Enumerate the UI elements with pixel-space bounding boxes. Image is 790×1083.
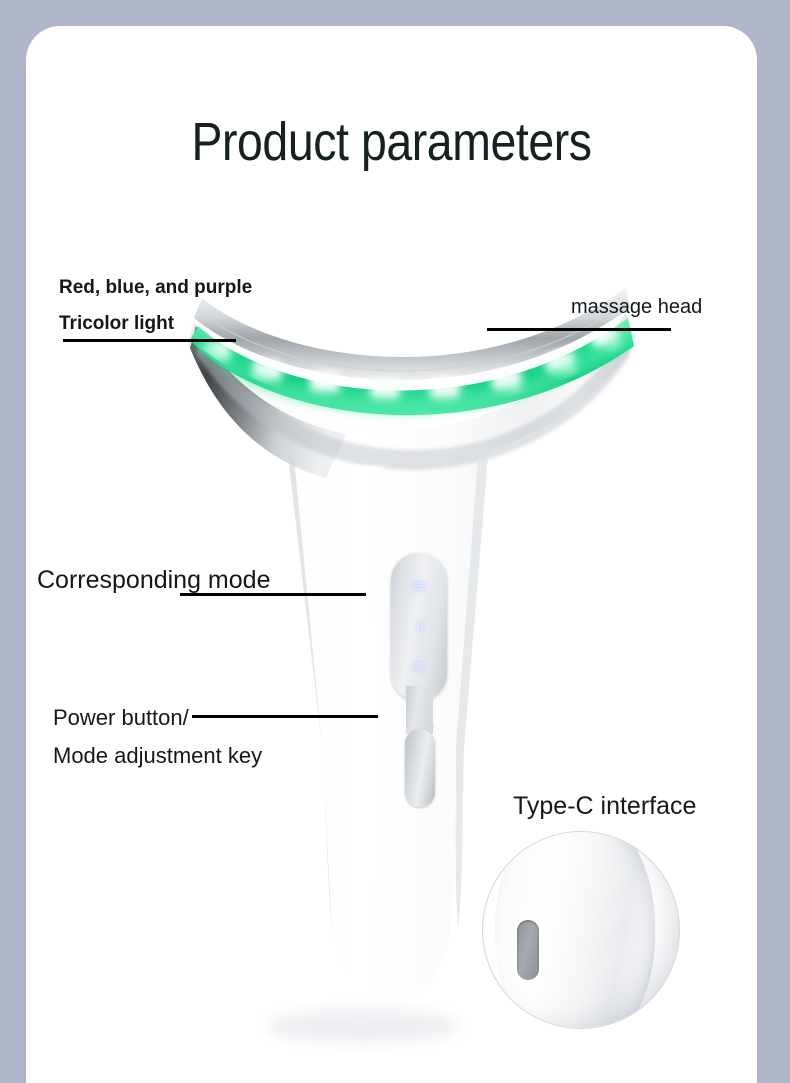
panel-stem (406, 686, 433, 734)
heat-icon: ≈ (411, 599, 427, 655)
heat-and-vibration-icon: ≋ (391, 659, 447, 673)
white-card: ≋ ≈ ≋ Product parameters Red, blue, and … (26, 26, 757, 1083)
inset-vignette (483, 832, 679, 1028)
corresponding-mode-label: Corresponding mode (37, 567, 270, 593)
type-c-zoom-inset (482, 831, 680, 1029)
power-button[interactable] (405, 729, 435, 807)
infographic-canvas: ≋ ≈ ≋ Product parameters Red, blue, and … (0, 0, 790, 1083)
tricolor-light-label-line2: Tricolor light (59, 314, 174, 334)
power-button-label-line1: Power button/ (53, 706, 189, 729)
power-button-leader-line (192, 715, 378, 718)
power-button-label-line2: Mode adjustment key (53, 744, 262, 767)
page-title: Product parameters (77, 111, 706, 173)
type-c-interface-label: Type-C interface (513, 793, 696, 819)
massage-head-leader-line (487, 328, 671, 331)
corresponding-mode-leader-line (180, 593, 366, 596)
mode-control-panel[interactable]: ≋ ≈ ≋ (391, 553, 447, 701)
massage-head-label: massage head (571, 297, 702, 318)
tricolor-light-label-line1: Red, blue, and purple (59, 278, 252, 298)
tricolor-light-leader-line (63, 339, 236, 342)
vibration-wave-icon: ≋ (391, 579, 447, 594)
